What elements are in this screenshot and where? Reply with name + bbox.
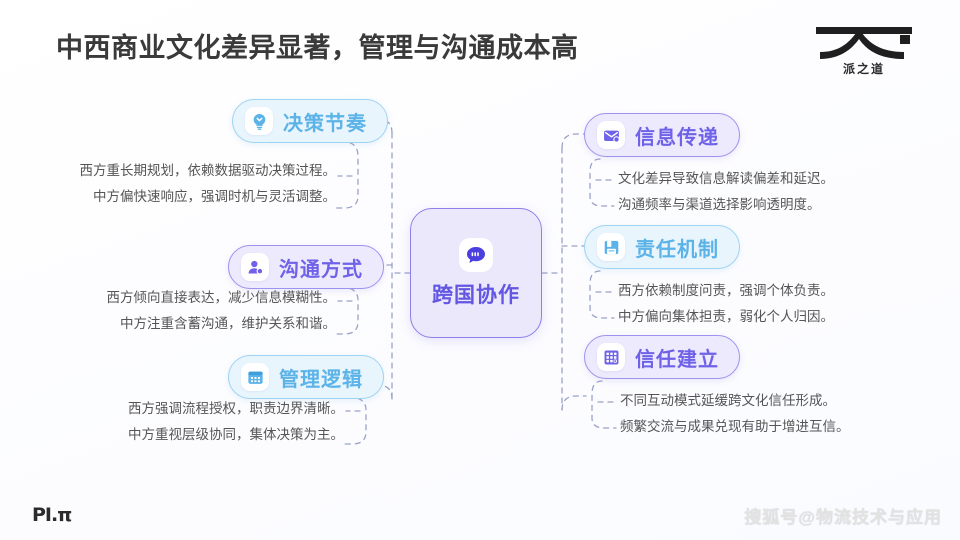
detail-line: 西方倾向直接表达，减少信息模糊性。 <box>46 285 336 311</box>
pai-zhi-dao-logo-mark-icon <box>812 22 916 60</box>
branch-details-zeren-jizhi: 西方依赖制度问责，强调个体负责。 中方偏向集体担责，弱化个人归因。 <box>618 278 918 330</box>
branch-details-juece-jiezou: 西方重长期规划，依赖数据驱动决策过程。 中方偏快速响应，强调时机与灵活调整。 <box>46 158 336 210</box>
footer-brand-mark: PI.π <box>32 504 71 526</box>
detail-line: 西方重长期规划，依赖数据驱动决策过程。 <box>46 158 336 184</box>
detail-line: 中方偏快速响应，强调时机与灵活调整。 <box>46 184 336 210</box>
branch-node-goutong-fangshi[interactable]: 沟通方式 <box>228 245 384 289</box>
brand-logo: 派之道 <box>804 22 924 84</box>
page-title: 中西商业文化差异显著，管理与沟通成本高 <box>56 26 579 65</box>
branch-node-xinren-jianli[interactable]: 信任建立 <box>584 335 740 379</box>
detail-line: 沟通频率与渠道选择影响透明度。 <box>618 192 918 218</box>
branch-node-label: 责任机制 <box>635 233 719 262</box>
branch-node-label: 信息传递 <box>635 121 719 150</box>
branch-node-label: 决策节奏 <box>283 107 367 136</box>
mindmap-center-node[interactable]: 跨国协作 <box>410 208 542 338</box>
detail-line: 中方注重含蓄沟通，维护关系和谐。 <box>46 311 336 337</box>
branch-node-xinxi-chuandi[interactable]: 信息传递 <box>584 113 740 157</box>
branch-node-juece-jiezou[interactable]: 决策节奏 <box>232 99 388 143</box>
calendar-icon <box>241 363 269 391</box>
detail-line: 不同互动模式延缓跨文化信任形成。 <box>620 388 926 414</box>
branch-details-guanli-luoji: 西方强调流程授权，职责边界清晰。 中方重视层级协同，集体决策为主。 <box>56 396 344 448</box>
branch-node-label: 信任建立 <box>635 343 719 372</box>
detail-line: 中方偏向集体担责，弱化个人归因。 <box>618 304 918 330</box>
speech-bubble-icon <box>459 238 493 272</box>
detail-line: 中方重视层级协同，集体决策为主。 <box>56 422 344 448</box>
branch-node-label: 沟通方式 <box>279 253 363 282</box>
grid-icon <box>597 343 625 371</box>
branch-node-zeren-jizhi[interactable]: 责任机制 <box>584 225 740 269</box>
detail-line: 文化差异导致信息解读偏差和延迟。 <box>618 166 918 192</box>
branch-details-xinxi-chuandi: 文化差异导致信息解读偏差和延迟。 沟通频率与渠道选择影响透明度。 <box>618 166 918 218</box>
lightbulb-icon <box>245 107 273 135</box>
detail-line: 频繁交流与成果兑现有助于增进互信。 <box>620 414 926 440</box>
person-search-icon <box>241 253 269 281</box>
slide-canvas: 中西商业文化差异显著，管理与沟通成本高 派之道 <box>0 0 960 540</box>
mail-icon <box>597 121 625 149</box>
detail-line: 西方依赖制度问责，强调个体负责。 <box>618 278 918 304</box>
watermark: 搜狐号@物流技术与应用 <box>744 503 942 528</box>
branch-details-xinren-jianli: 不同互动模式延缓跨文化信任形成。 频繁交流与成果兑现有助于增进互信。 <box>620 388 926 440</box>
brand-subtitle: 派之道 <box>804 60 924 77</box>
center-node-label: 跨国协作 <box>432 279 520 309</box>
branch-details-goutong-fangshi: 西方倾向直接表达，减少信息模糊性。 中方注重含蓄沟通，维护关系和谐。 <box>46 285 336 337</box>
detail-line: 西方强调流程授权，职责边界清晰。 <box>56 396 344 422</box>
branch-node-label: 管理逻辑 <box>279 363 363 392</box>
archive-icon <box>597 233 625 261</box>
branch-node-guanli-luoji[interactable]: 管理逻辑 <box>228 355 384 399</box>
